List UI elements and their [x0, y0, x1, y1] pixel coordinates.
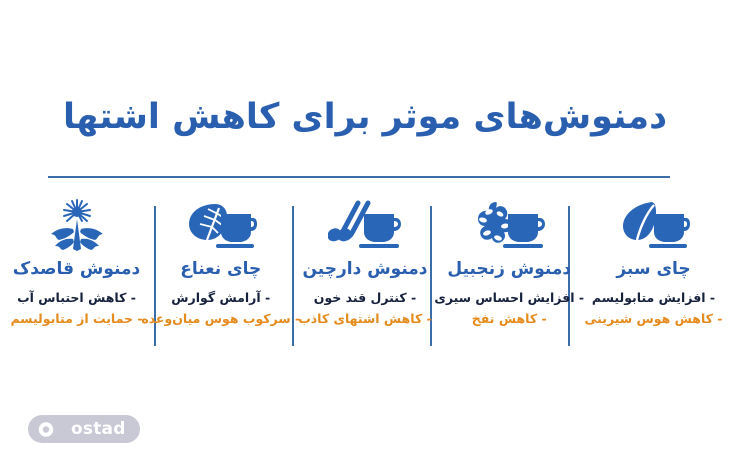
column-title: دمنوش قاصدک	[13, 258, 140, 281]
benefit-item: - آرامش گوارش	[141, 287, 300, 309]
benefit-item: - افزایش متابولیسم	[585, 287, 723, 309]
title-container: دمنوش‌های موثر برای کاهش اشتها	[0, 96, 730, 140]
tea-column-dandelion: دمنوش قاصدک - کاهش احتباس آب - حمایت از …	[10, 196, 143, 330]
tea-column-mint: چای نعناع - آرامش گوارش - سرکوب هوس میان…	[154, 196, 287, 330]
benefit-item: - کاهش اشتهای کاذب	[298, 308, 432, 330]
column-title: چای سبز	[616, 258, 690, 281]
benefit-list: - افزایش متابولیسم - کاهش هوس شیرینی	[585, 287, 723, 330]
benefit-item: - کنترل قند خون	[298, 287, 432, 309]
mint-leaf-cup-icon	[185, 196, 257, 254]
benefit-item: - کاهش نفخ	[434, 308, 584, 330]
brand-logo: ostad	[28, 415, 140, 443]
column-title: چای نعناع	[180, 258, 261, 281]
benefit-list: - افزایش احساس سیری - کاهش نفخ	[434, 287, 584, 330]
column-title: دمنوش زنجبیل	[447, 258, 571, 281]
tea-column-green-tea: چای سبز - افزایش متابولیسم - کاهش هوس شی…	[587, 196, 720, 330]
page-title: دمنوش‌های موثر برای کاهش اشتها	[63, 96, 667, 140]
logo-wordmark: ostad	[71, 421, 126, 438]
benefit-item: - افزایش احساس سیری	[434, 287, 584, 309]
tea-column-cinnamon: دمنوش دارچین - کنترل قند خون - کاهش اشته…	[299, 196, 432, 330]
benefit-item: - حمایت از متابولیسم	[10, 308, 142, 330]
tea-leaf-cup-icon	[618, 196, 690, 254]
benefit-list: - کنترل قند خون - کاهش اشتهای کاذب	[298, 287, 432, 330]
cinnamon-stick-cup-icon	[328, 196, 402, 254]
benefit-list: - آرامش گوارش - سرکوب هوس میان‌وعده	[141, 287, 300, 330]
tea-columns: دمنوش قاصدک - کاهش احتباس آب - حمایت از …	[10, 196, 720, 351]
tea-column-ginger: دمنوش زنجبیل - افزایش احساس سیری - کاهش …	[443, 196, 576, 330]
column-title: دمنوش دارچین	[302, 258, 427, 281]
benefit-item: - کاهش احتباس آب	[10, 287, 142, 309]
benefit-item: - کاهش هوس شیرینی	[585, 308, 723, 330]
ginger-root-cup-icon	[472, 196, 546, 254]
benefit-item: - سرکوب هوس میان‌وعده	[141, 308, 300, 330]
ostad-circles-icon	[38, 421, 64, 438]
infographic-canvas: دمنوش‌های موثر برای کاهش اشتها	[0, 0, 730, 460]
benefit-list: - کاهش احتباس آب - حمایت از متابولیسم	[10, 287, 142, 330]
dandelion-flower-icon	[48, 196, 106, 254]
title-divider	[48, 176, 670, 178]
